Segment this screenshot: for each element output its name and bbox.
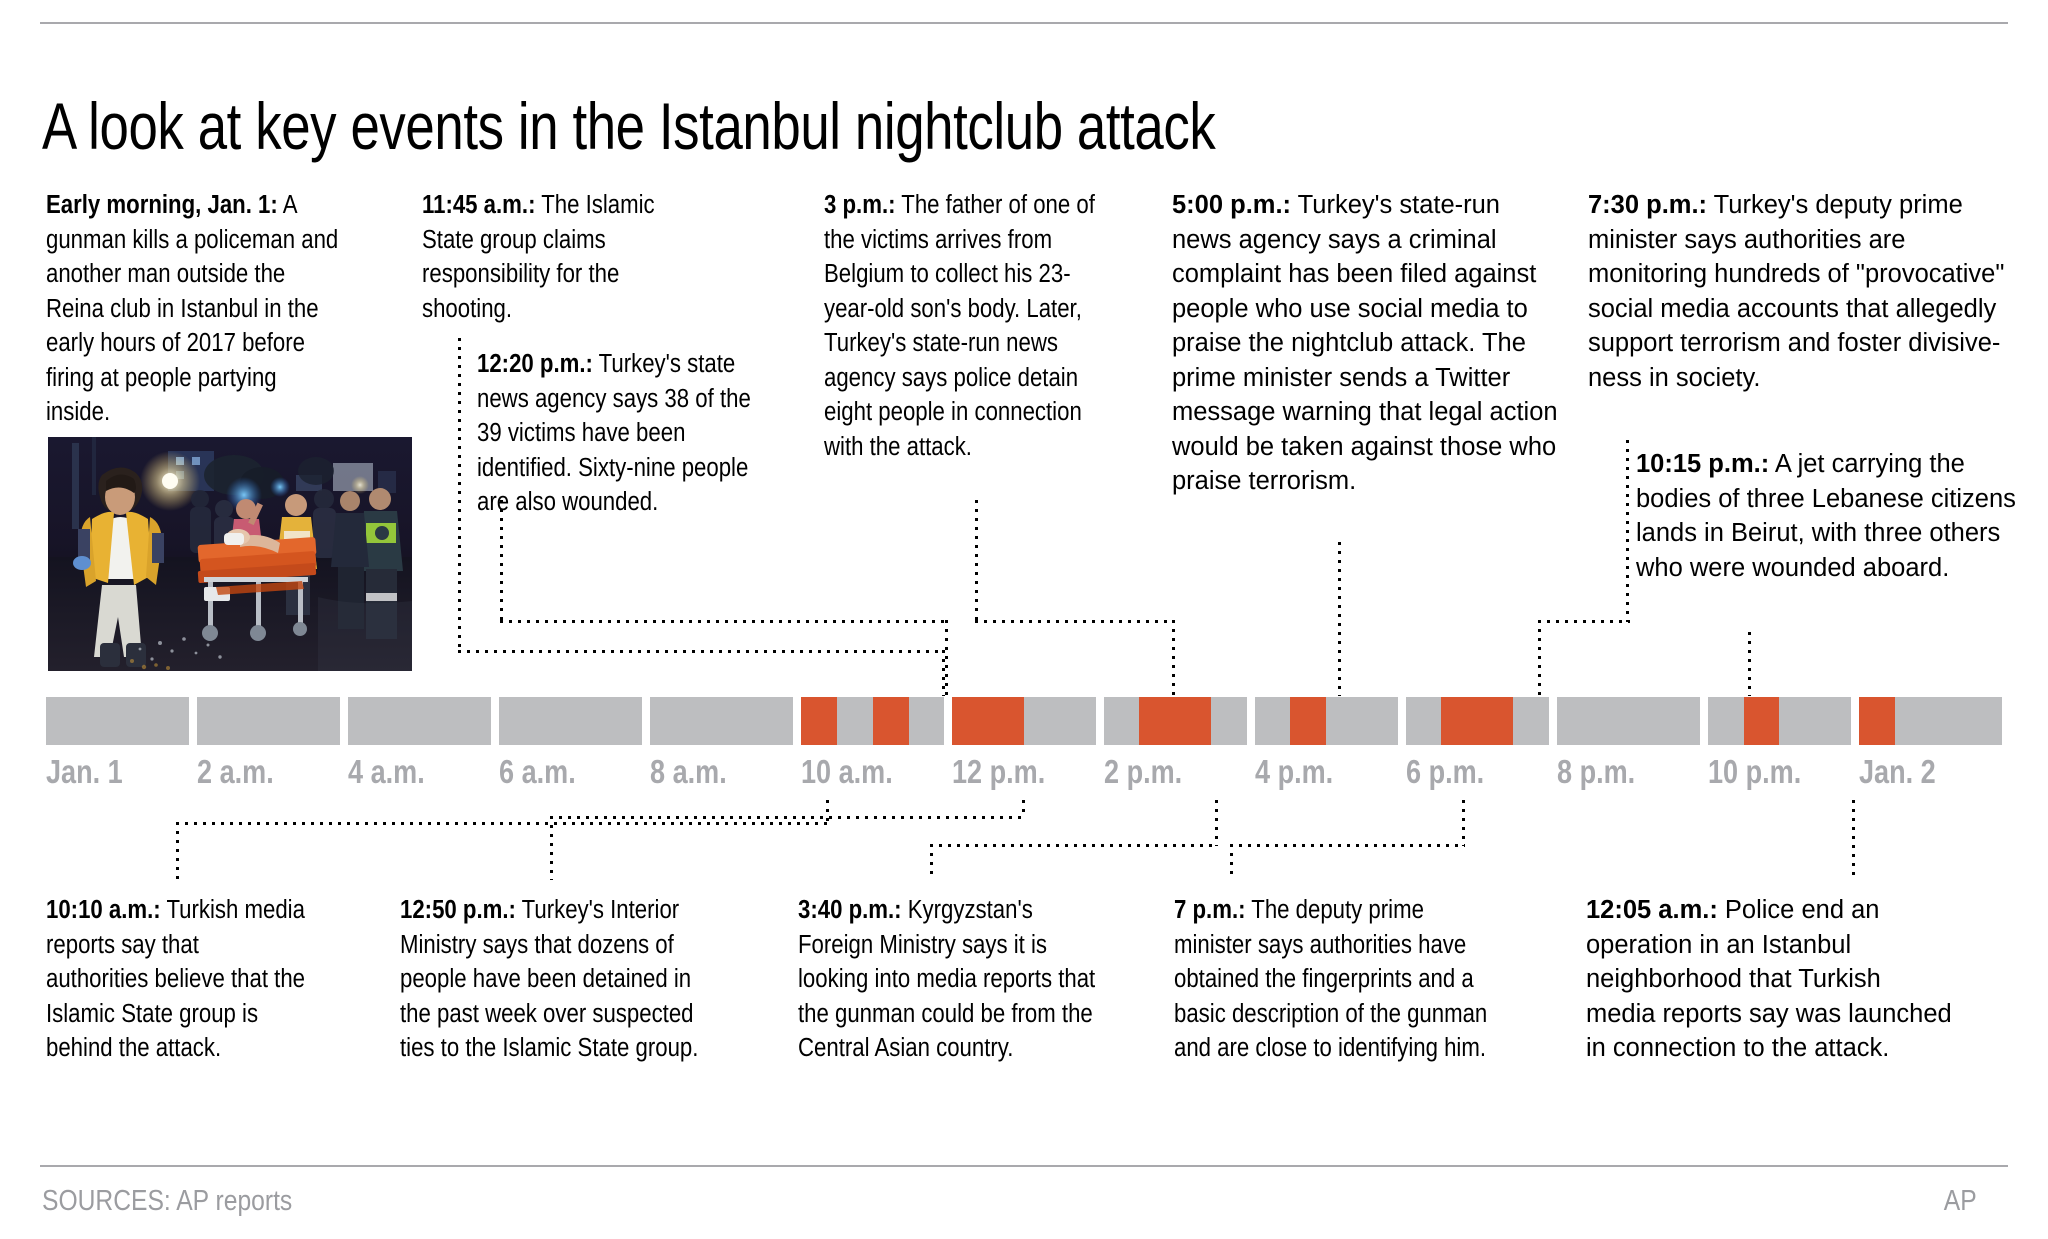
timeline-slot-highlighted[interactable] [1477, 697, 1513, 745]
axis-tick-label: 2 a.m. [197, 752, 274, 792]
leader-line-340pm-v1 [1215, 800, 1218, 846]
event-text: Turkey's deputy prime minister says auth… [1588, 191, 2004, 392]
axis-tick-label: 10 p.m. [1708, 752, 1801, 792]
event-text: The father of one of the victims arrives… [824, 191, 1095, 461]
timeline-block-11[interactable] [1708, 697, 1851, 745]
timeline-block-10[interactable] [1557, 697, 1700, 745]
timeline-axis: Jan. 12 a.m.4 a.m.6 a.m.8 a.m.10 a.m.12 … [46, 752, 2002, 796]
event-time-label: 12:20 p.m.: [477, 350, 593, 378]
timeline-slot[interactable] [82, 697, 118, 745]
timeline-slot[interactable] [1362, 697, 1398, 745]
leader-line-7pm-v1 [1462, 800, 1465, 846]
timeline-slot[interactable] [1664, 697, 1700, 745]
axis-tick-label: 6 p.m. [1406, 752, 1484, 792]
event-card-1220pm: 12:20 p.m.: Turkey's state news agency s… [477, 347, 773, 520]
timeline-slot[interactable] [758, 697, 794, 745]
timeline-slot[interactable] [1966, 697, 2002, 745]
timeline-bar[interactable] [46, 697, 2002, 745]
timeline-slot-highlighted[interactable] [1175, 697, 1211, 745]
leader-line-1010am-v2 [176, 822, 179, 880]
footer-credit: AP [1944, 1184, 1977, 1218]
leader-line-1145am-v1 [458, 338, 461, 652]
event-time-label: 12:05 a.m.: [1586, 896, 1718, 924]
axis-tick-label: Jan. 2 [1859, 752, 1936, 792]
timeline-slot-highlighted[interactable] [1290, 697, 1326, 745]
leader-line-1220pm-h [500, 620, 948, 623]
leader-line-1205am-v [1852, 800, 1855, 880]
timeline-slot-highlighted[interactable] [801, 697, 837, 745]
axis-tick-label: 6 a.m. [499, 752, 576, 792]
leader-line-340pm-v2 [930, 844, 933, 880]
timeline-block-9[interactable] [1406, 697, 1549, 745]
timeline-block-4[interactable] [650, 697, 793, 745]
timeline-slot-highlighted[interactable] [1139, 697, 1175, 745]
event-text: A gunman kills a policeman and another m… [46, 191, 338, 426]
leader-line-7pm-v2 [1230, 844, 1233, 880]
timeline-slot[interactable] [304, 697, 340, 745]
event-card-1250pm: 12:50 p.m.: Turkey's Interior Ministry s… [400, 893, 705, 1066]
timeline-block-7[interactable] [1104, 697, 1247, 745]
leader-line-730pm-v2 [1538, 620, 1541, 696]
leader-line-1250pm-h [550, 816, 1024, 819]
timeline-block-8[interactable] [1255, 697, 1398, 745]
timeline-slot[interactable] [197, 697, 233, 745]
axis-tick-label: Jan. 1 [46, 752, 123, 792]
leader-line-1250pm-v2 [550, 816, 553, 880]
timeline-slot[interactable] [1930, 697, 1966, 745]
leader-line-3pm-v2 [1172, 620, 1175, 696]
timeline-slot[interactable] [1255, 697, 1291, 745]
timeline-slot[interactable] [1593, 697, 1629, 745]
leader-line-340pm-h [930, 844, 1218, 847]
timeline-slot[interactable] [46, 697, 82, 745]
timeline-slot[interactable] [571, 697, 607, 745]
timeline-slot[interactable] [1557, 697, 1593, 745]
timeline-slot-highlighted[interactable] [988, 697, 1024, 745]
event-card-500pm: 5:00 p.m.: Turkey's state-run news agenc… [1172, 188, 1562, 499]
timeline-slot[interactable] [1211, 697, 1247, 745]
leader-line-3pm-h [975, 620, 1175, 623]
top-divider-rule [40, 22, 2008, 24]
event-card-3pm: 3 p.m.: The father of one of the victims… [824, 188, 1116, 464]
timeline-slot[interactable] [384, 697, 420, 745]
event-card-1205am: 12:05 a.m.: Police end an operation in a… [1586, 893, 1956, 1066]
timeline-slot[interactable] [1024, 697, 1060, 745]
timeline-slot[interactable] [722, 697, 758, 745]
leader-line-730pm-h [1538, 620, 1630, 623]
event-time-label: 5:00 p.m.: [1172, 191, 1291, 219]
leader-line-500pm-v [1338, 542, 1341, 696]
timeline-slot[interactable] [499, 697, 535, 745]
leader-line-7pm-h [1230, 844, 1465, 847]
timeline-slot[interactable] [1815, 697, 1851, 745]
timeline-slot[interactable] [1326, 697, 1362, 745]
timeline-block-12[interactable] [1859, 697, 2002, 745]
event-time-label: 10:15 p.m.: [1636, 450, 1769, 478]
timeline-slot[interactable] [535, 697, 571, 745]
timeline-slot[interactable] [686, 697, 722, 745]
axis-tick-label: 4 a.m. [348, 752, 425, 792]
event-time-label: 7:30 p.m.: [1588, 191, 1707, 219]
axis-tick-label: 8 p.m. [1557, 752, 1635, 792]
timeline-slot[interactable] [607, 697, 643, 745]
timeline-slot-highlighted[interactable] [1441, 697, 1477, 745]
leader-line-1010am-v1 [826, 800, 829, 824]
axis-tick-label: 4 p.m. [1255, 752, 1333, 792]
photo-reina-club-stretcher [48, 437, 412, 671]
event-card-340pm: 3:40 p.m.: Kyrgyzstan's Foreign Ministry… [798, 893, 1098, 1066]
leader-line-1015pm-v [1748, 632, 1751, 696]
timeline-block-5[interactable] [801, 697, 944, 745]
timeline-slot[interactable] [1628, 697, 1664, 745]
event-card-7pm: 7 p.m.: The deputy prime minister says a… [1174, 893, 1505, 1066]
timeline-slot[interactable] [348, 697, 384, 745]
event-time-label: Early morning, Jan. 1: [46, 191, 278, 219]
axis-tick-label: 10 a.m. [801, 752, 893, 792]
footer-sources: SOURCES: AP reports [42, 1184, 292, 1218]
event-time-label: 3:40 p.m.: [798, 896, 902, 924]
timeline-slot[interactable] [420, 697, 456, 745]
leader-line-1010am-h [176, 822, 828, 825]
timeline-slot[interactable] [1406, 697, 1442, 745]
leader-line-1220pm-v1 [500, 500, 503, 622]
timeline-slot[interactable] [269, 697, 305, 745]
axis-tick-label: 2 p.m. [1104, 752, 1182, 792]
timeline-slot[interactable] [118, 697, 154, 745]
page-title: A look at key events in the Istanbul nig… [42, 88, 1215, 164]
event-card-1145am: 11:45 a.m.: The Islamic State group clai… [422, 188, 700, 326]
timeline-slot[interactable] [455, 697, 491, 745]
timeline-slot[interactable] [1779, 697, 1815, 745]
timeline-block-1[interactable] [197, 697, 340, 745]
leader-line-3pm-v1 [975, 500, 978, 622]
event-time-label: 12:50 p.m.: [400, 896, 516, 924]
timeline-slot-highlighted[interactable] [1859, 697, 1895, 745]
event-time-label: 7 p.m.: [1174, 896, 1246, 924]
timeline-slot-highlighted[interactable] [873, 697, 909, 745]
timeline-slot-highlighted[interactable] [1744, 697, 1780, 745]
axis-tick-label: 12 p.m. [952, 752, 1045, 792]
event-time-label: 3 p.m.: [824, 191, 896, 219]
timeline-slot[interactable] [1104, 697, 1140, 745]
timeline-slot[interactable] [837, 697, 873, 745]
timeline-slot-highlighted[interactable] [952, 697, 988, 745]
timeline-block-6[interactable] [952, 697, 1095, 745]
event-card-1010am: 10:10 a.m.: Turkish media reports say th… [46, 893, 307, 1066]
event-time-label: 10:10 a.m.: [46, 896, 161, 924]
timeline-slot[interactable] [1060, 697, 1096, 745]
timeline-slot[interactable] [233, 697, 269, 745]
event-card-1015pm: 10:15 p.m.: A jet carrying the bodies of… [1636, 447, 2016, 585]
timeline-block-0[interactable] [46, 697, 189, 745]
timeline-slot[interactable] [1513, 697, 1549, 745]
axis-tick-label: 8 a.m. [650, 752, 727, 792]
timeline-slot[interactable] [153, 697, 189, 745]
leader-line-730pm-v1 [1626, 440, 1629, 622]
timeline-block-2[interactable] [348, 697, 491, 745]
leader-line-1145am-h [458, 650, 945, 653]
event-card-730pm: 7:30 p.m.: Turkey's deputy prime ministe… [1588, 188, 2008, 395]
timeline-slot[interactable] [1895, 697, 1931, 745]
timeline-slot[interactable] [909, 697, 945, 745]
event-card-early-morning: Early morning, Jan. 1: A gunman kills a … [46, 188, 346, 430]
leader-line-1220pm-v2 [945, 620, 948, 696]
bottom-divider-rule [40, 1165, 2008, 1167]
event-time-label: 11:45 a.m.: [422, 191, 535, 219]
timeline-slot[interactable] [650, 697, 686, 745]
event-text: Turkey's state-run news agency says a cr… [1172, 191, 1558, 495]
timeline-slot[interactable] [1708, 697, 1744, 745]
timeline-block-3[interactable] [499, 697, 642, 745]
